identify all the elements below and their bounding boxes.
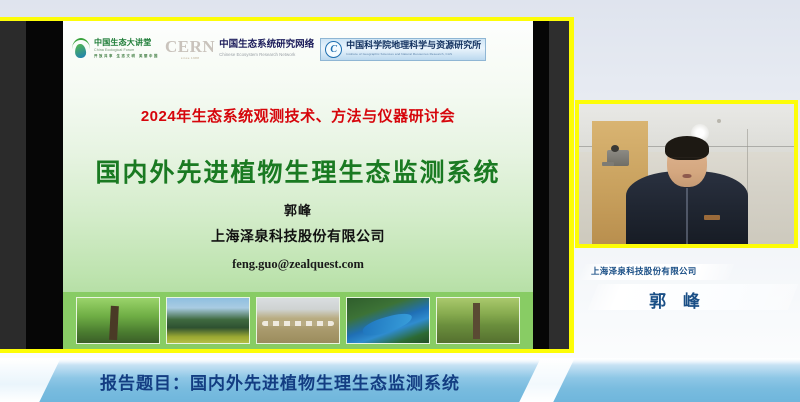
china-ecological-forum-logo: 中国生态大讲堂 China Ecological Forum 开放共享 生态文明… [71,37,159,61]
cas-monogram-icon: C [325,41,342,58]
letterbox-right-band [549,21,569,349]
nameplate-name-text: 郭 峰 [575,287,780,312]
broadcast-screen: 中国生态大讲堂 China Ecological Forum 开放共享 生态文明… [0,0,800,402]
cas-name-block: 中国科学院地理科学与资源研究所 Institute of Geographic … [346,41,481,56]
letterbox-left-band [0,21,26,349]
photo-thumbnail [256,297,340,344]
cern-since: since 1988 [165,56,215,60]
jacket-badge [704,215,720,220]
conference-title: 2024年生态系统观测技术、方法与仪器研讨会 [63,105,533,126]
slide-letterbox-right [533,21,569,349]
nameplate-company-text: 上海泽泉科技股份有限公司 [591,265,697,277]
photo-thumbnail [436,297,520,344]
jacket-zipper [686,188,688,244]
cern-acronym: CERN [165,38,215,55]
cef-tagline: 开放共享 生态文明 美丽中国 [94,55,159,58]
photo-thumbnail [346,297,430,344]
cern-acronym-block: CERN since 1988 [165,38,215,60]
cef-en-name: China Ecological Forum [94,49,159,53]
slide-logo-band: 中国生态大讲堂 China Ecological Forum 开放共享 生态文明… [63,21,533,77]
bottom-title-bar: 报告题目：国内外先进植物生理生态监测系统 [0,358,800,402]
wall-projector [607,150,629,166]
speaker-nameplate: 上海泽泉科技股份有限公司 郭 峰 [575,258,798,318]
cas-en-name: Institute of Geographic Sciences and Nat… [346,53,481,56]
igsnrr-cas-logo: C 中国科学院地理科学与资源研究所 Institute of Geographi… [320,38,486,61]
photo-thumbnail [76,297,160,344]
leaf-water-drop-icon [71,37,91,61]
speaker-mouth [682,174,691,178]
cern-cn-name: 中国生态系统研究网络 [219,40,314,50]
slide-speaker-name: 郭峰 [63,200,533,219]
bottom-bar-title-text: 报告题目：国内外先进植物生理生态监测系统 [0,369,800,394]
speaker-video-feed[interactable] [579,104,794,244]
photo-thumbnail [166,297,250,344]
cas-cn-name: 中国科学院地理科学与资源研究所 [346,41,481,51]
cern-en-name: Chinese Ecosystem Research Network [219,53,314,58]
slide-main-title: 国内外先进植物生理生态监测系统 [63,153,533,189]
cern-name-block: 中国生态系统研究网络 Chinese Ecosystem Research Ne… [219,40,314,57]
slide-email: feng.guo@zealquest.com [63,257,533,272]
cern-logo: CERN since 1988 中国生态系统研究网络 Chinese Ecosy… [165,38,314,60]
cef-cn-name: 中国生态大讲堂 [94,39,159,47]
bottom-bar-sheen [0,358,800,365]
speaker-video-frame[interactable] [575,100,798,248]
slide-company-name: 上海泽泉科技股份有限公司 [63,226,533,246]
china-ecological-forum-text: 中国生态大讲堂 China Ecological Forum 开放共享 生态文明… [94,39,159,59]
slide-letterbox-left [0,21,63,349]
presentation-slide[interactable]: 中国生态大讲堂 China Ecological Forum 开放共享 生态文明… [63,21,533,349]
slide-photo-strip [63,292,533,349]
speaker-brow-line [670,157,704,165]
